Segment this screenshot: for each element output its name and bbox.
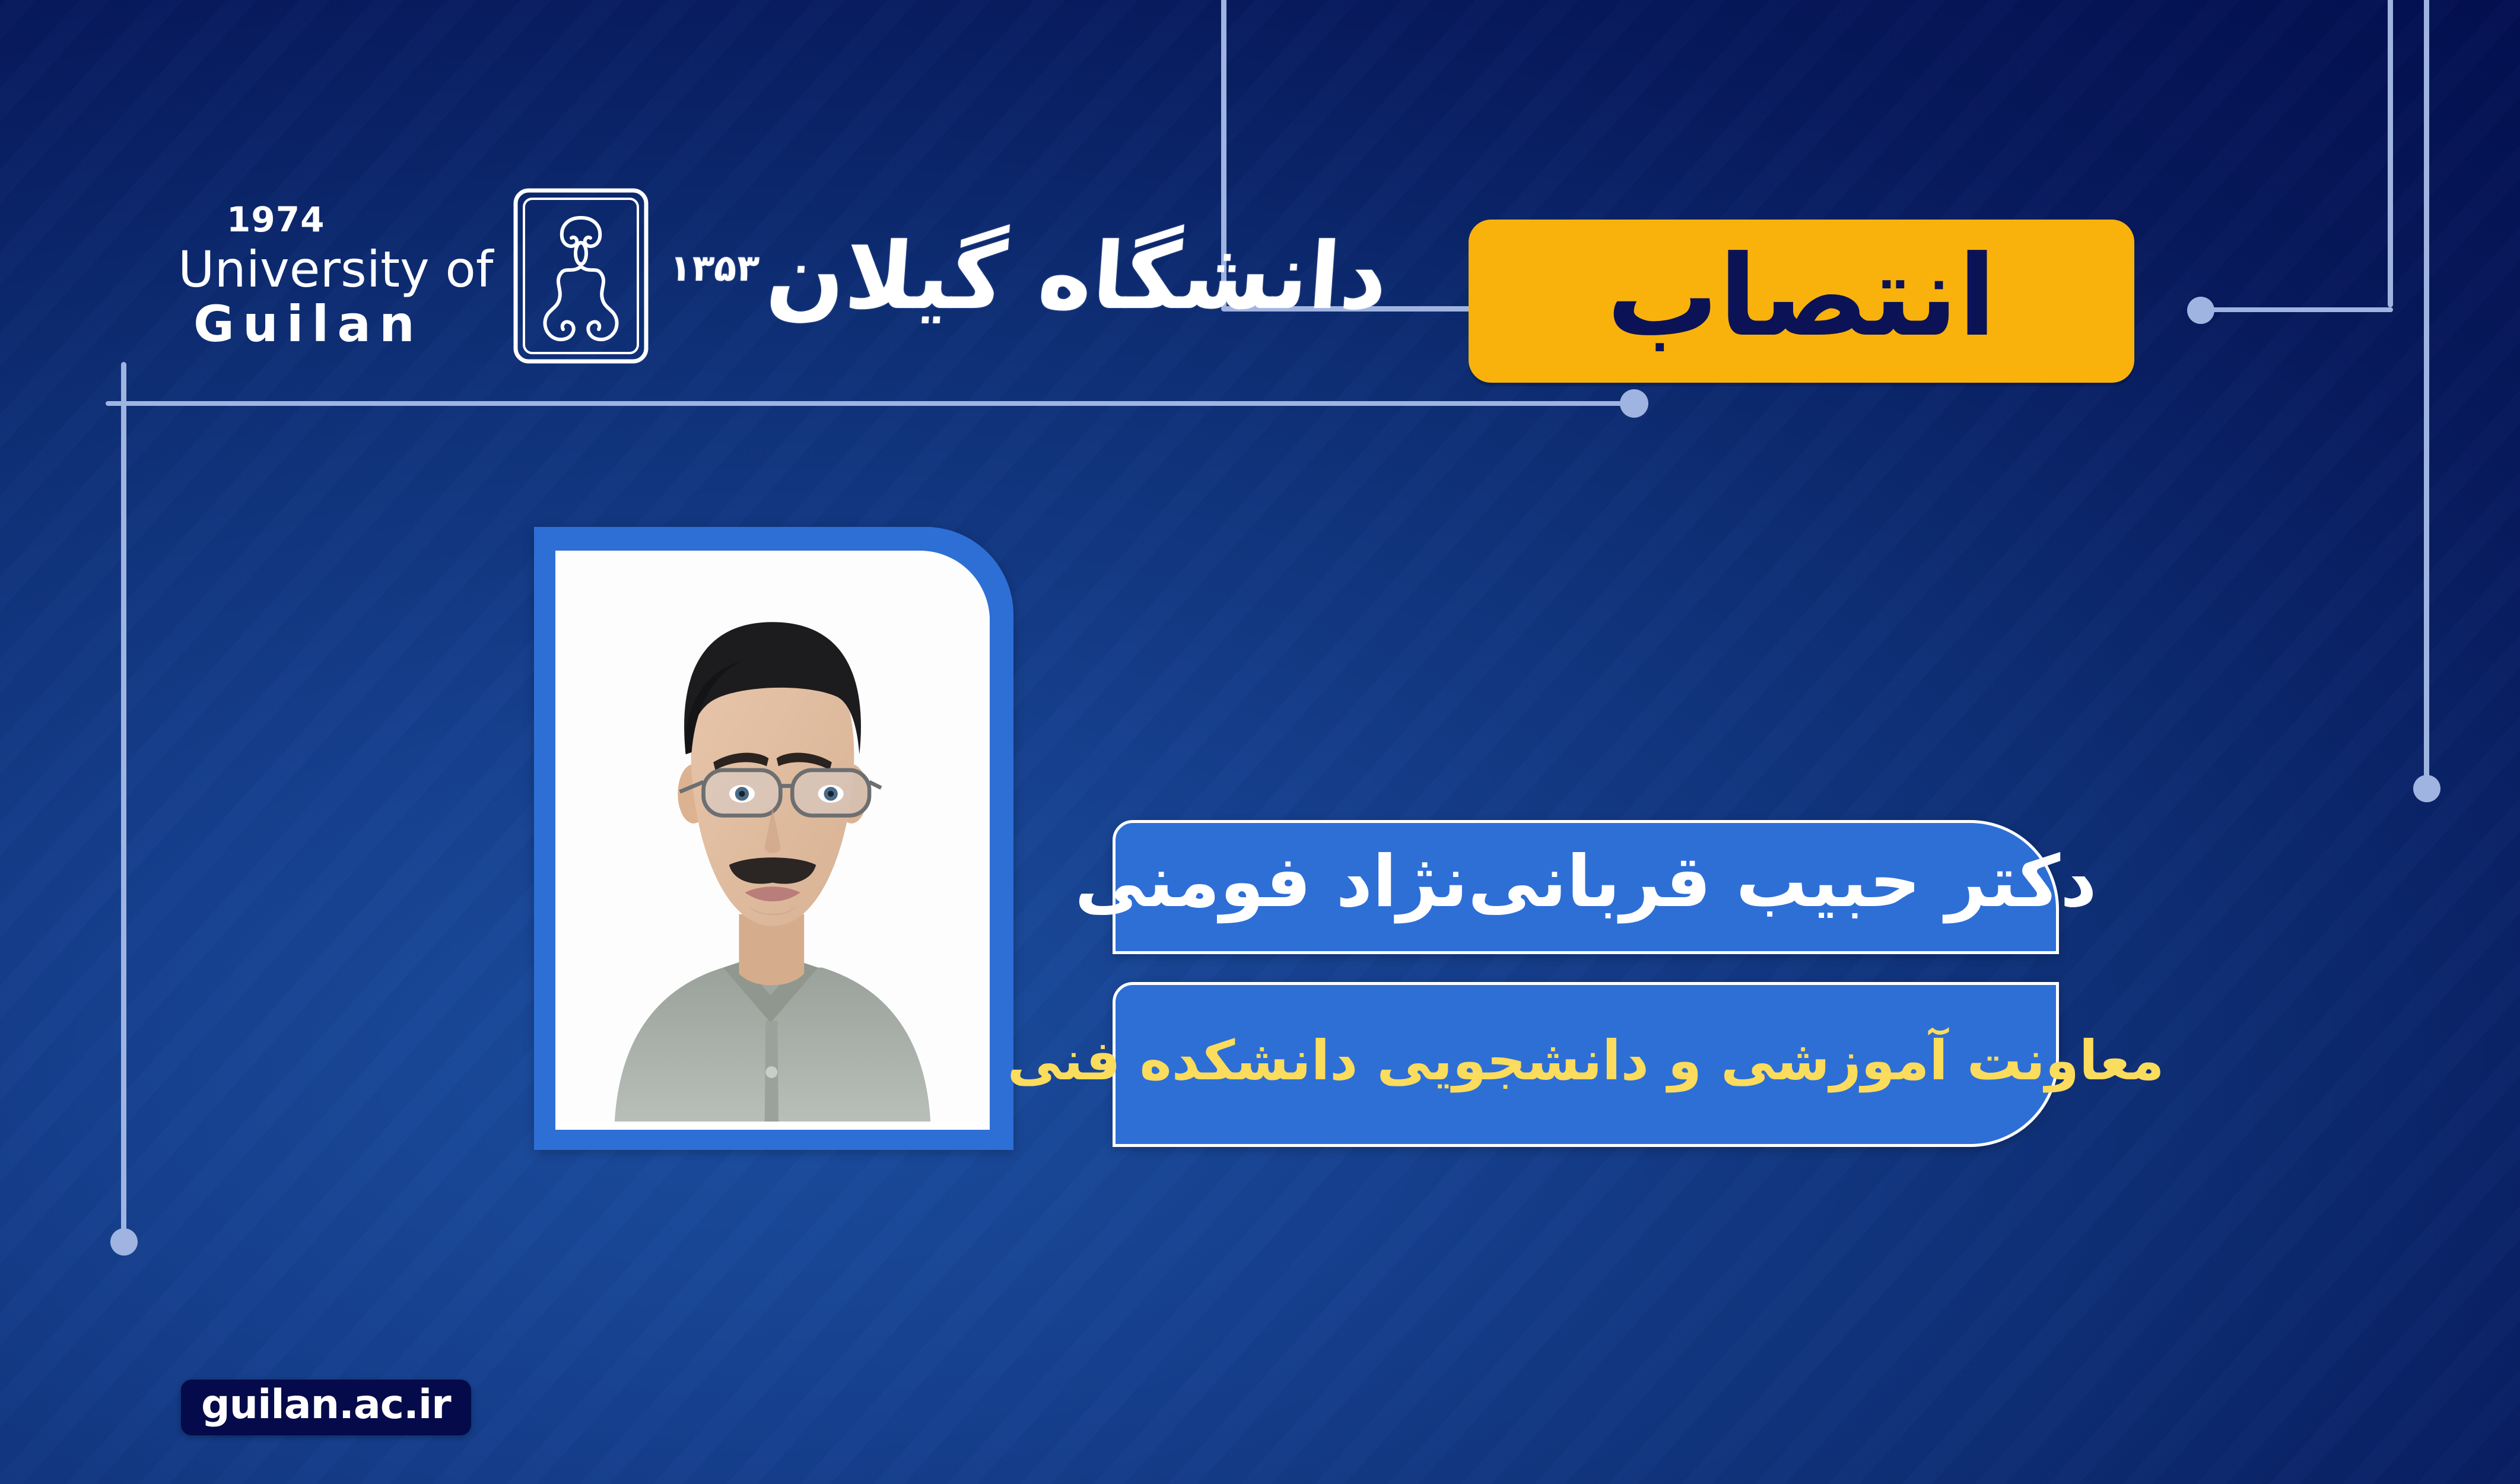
- left-vertical-line-dot: [110, 1228, 138, 1256]
- logo-english-line1: University of: [178, 243, 493, 295]
- right-corner-vertical-line: [2388, 0, 2393, 307]
- right-vertical-line-dot: [2413, 775, 2440, 802]
- portrait-frame: [534, 527, 1013, 1150]
- person-name: دکتر حبیب قربانی‌نژاد فومنی: [1075, 847, 2097, 918]
- portrait-photo: [555, 551, 990, 1130]
- headline-badge: انتصاب: [1469, 220, 2134, 383]
- university-logo: دانشگاه گیلان۱۳۵۳ 1974 University of Gui…: [172, 148, 1216, 403]
- logo-english-year: 1974: [178, 199, 493, 240]
- person-role: معاونت آموزشی و دانشجویی دانشکده فنی: [1008, 1034, 2165, 1088]
- right-corner-horizontal-line: [2195, 307, 2393, 312]
- right-corner-dot: [2187, 297, 2214, 324]
- logo-english-wordmark: 1974 University of Guilan: [178, 199, 493, 353]
- logo-english-line2: Guilan: [178, 295, 493, 353]
- logo-persian-year: ۱۳۵۳: [668, 246, 761, 290]
- left-vertical-line: [121, 362, 126, 1240]
- guilan-university-emblem-icon: [511, 187, 651, 365]
- poster-canvas: دانشگاه گیلان۱۳۵۳ 1974 University of Gui…: [0, 0, 2520, 1484]
- website-badge[interactable]: guilan.ac.ir: [181, 1380, 471, 1435]
- person-role-banner: معاونت آموزشی و دانشجویی دانشکده فنی: [1113, 982, 2059, 1147]
- right-vertical-line: [2424, 0, 2429, 789]
- logo-persian-wordmark: دانشگاه گیلان۱۳۵۳: [666, 230, 1391, 322]
- person-name-banner: دکتر حبیب قربانی‌نژاد فومنی: [1113, 820, 2059, 954]
- website-url: guilan.ac.ir: [201, 1385, 451, 1425]
- headline-label: انتصاب: [1607, 241, 1997, 352]
- logo-underline-dot: [1620, 389, 1648, 418]
- logo-persian-name: دانشگاه گیلان: [763, 223, 1391, 330]
